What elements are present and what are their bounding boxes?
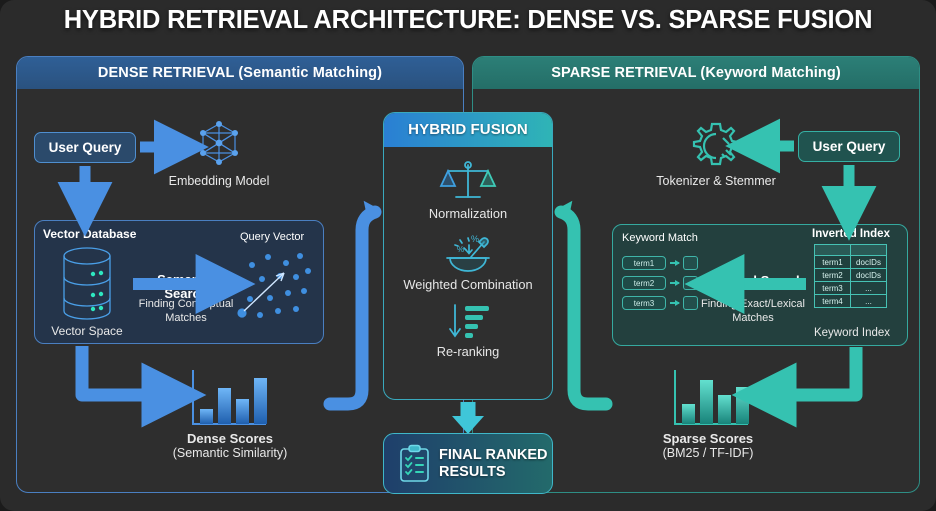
sparse-scores-caption: Sparse Scores (BM25 / TF-IDF) — [628, 432, 788, 460]
index-table-cell: term1 — [815, 256, 851, 269]
embedding-model-icon — [190, 118, 248, 168]
keyword-term-chip: term2 — [622, 276, 666, 290]
index-table-cell: docIDs — [851, 256, 887, 269]
index-table-cell: ... — [851, 282, 887, 295]
index-table-header-row — [815, 245, 887, 256]
inverted-index-title: Inverted Index — [812, 228, 890, 240]
vector-space-caption: Vector Space — [42, 324, 132, 338]
sparse-user-query-box[interactable]: User Query — [798, 131, 900, 162]
final-results-line1: FINAL RANKED — [439, 447, 547, 464]
page-title: HYBRID RETRIEVAL ARCHITECTURE: DENSE VS.… — [0, 6, 936, 35]
index-table-row: term4... — [815, 295, 887, 308]
final-ranked-results-box[interactable]: FINAL RANKED RESULTS — [383, 433, 553, 494]
index-table-row: term1docIDs — [815, 256, 887, 269]
fusion-label-weighted: Weighted Combination — [384, 277, 552, 292]
keyword-search-sub: Finding Exact/Lexical Matches — [692, 297, 814, 325]
keyword-term-row: term3 — [622, 296, 700, 310]
final-results-line2: RESULTS — [439, 464, 547, 481]
sparse-user-query-label: User Query — [813, 139, 886, 154]
term-arrow-icon — [670, 262, 679, 264]
svg-text:%: % — [471, 234, 479, 244]
dense-scores-chart — [186, 368, 270, 430]
database-cylinder-icon — [57, 245, 117, 323]
tokenizer-caption: Tokenizer & Stemmer — [640, 174, 792, 188]
keyword-term-row: term1 — [622, 256, 700, 270]
mortar-bowl-icon: % % — [438, 232, 498, 276]
sort-descending-icon — [438, 301, 498, 343]
term-match-cell — [683, 276, 698, 290]
dense-user-query-label: User Query — [49, 140, 122, 155]
keyword-search-label: Keyword Search — [700, 274, 806, 288]
index-table-cell: term4 — [815, 295, 851, 308]
term-arrow-icon — [670, 302, 679, 304]
query-vector-label: Query Vector — [240, 231, 304, 243]
keyword-match-title: Keyword Match — [622, 232, 698, 244]
hybrid-fusion-panel: HYBRID FUSION Normalization % % — [383, 112, 553, 400]
index-table-cell: term3 — [815, 282, 851, 295]
fusion-step-reranking: Re-ranking — [384, 301, 552, 359]
keyword-term-chip: term3 — [622, 296, 666, 310]
index-table-cell: docIDs — [851, 269, 887, 282]
fusion-label-normalization: Normalization — [384, 206, 552, 221]
tokenizer-gear-icon — [690, 120, 742, 172]
inverted-index-table: term1docIDsterm2docIDsterm3...term4... — [814, 244, 887, 308]
balance-scale-icon — [438, 159, 498, 205]
keyword-term-chip: term1 — [622, 256, 666, 270]
keyword-index-caption: Keyword Index — [800, 326, 904, 340]
index-table-cell: term2 — [815, 269, 851, 282]
vector-database-title: Vector Database — [43, 227, 136, 241]
index-table-row: term2docIDs — [815, 269, 887, 282]
vector-scatter-icon — [236, 243, 320, 328]
keyword-term-row: term2 — [622, 276, 700, 290]
term-arrow-icon — [670, 282, 679, 284]
svg-text:%: % — [457, 245, 464, 254]
fusion-step-normalization: Normalization — [384, 159, 552, 221]
fusion-step-weighted: % % Weighted Combination — [384, 232, 552, 292]
embedding-model-caption: Embedding Model — [149, 174, 289, 188]
term-match-cell — [683, 256, 698, 270]
clipboard-check-icon — [398, 444, 431, 484]
dense-user-query-box[interactable]: User Query — [34, 132, 136, 163]
dense-panel-header: DENSE RETRIEVAL (Semantic Matching) — [17, 57, 463, 89]
semantic-search-sub: Finding Conceptual Matches — [130, 297, 242, 325]
fusion-label-reranking: Re-ranking — [384, 344, 552, 359]
keyword-term-list: term1term2term3 — [622, 256, 700, 316]
sparse-scores-chart — [668, 368, 752, 430]
sparse-panel-header: SPARSE RETRIEVAL (Keyword Matching) — [473, 57, 919, 89]
index-table-cell: ... — [851, 295, 887, 308]
fusion-panel-header: HYBRID FUSION — [384, 113, 552, 147]
dense-scores-caption: Dense Scores (Semantic Similarity) — [150, 432, 310, 460]
index-table-row: term3... — [815, 282, 887, 295]
